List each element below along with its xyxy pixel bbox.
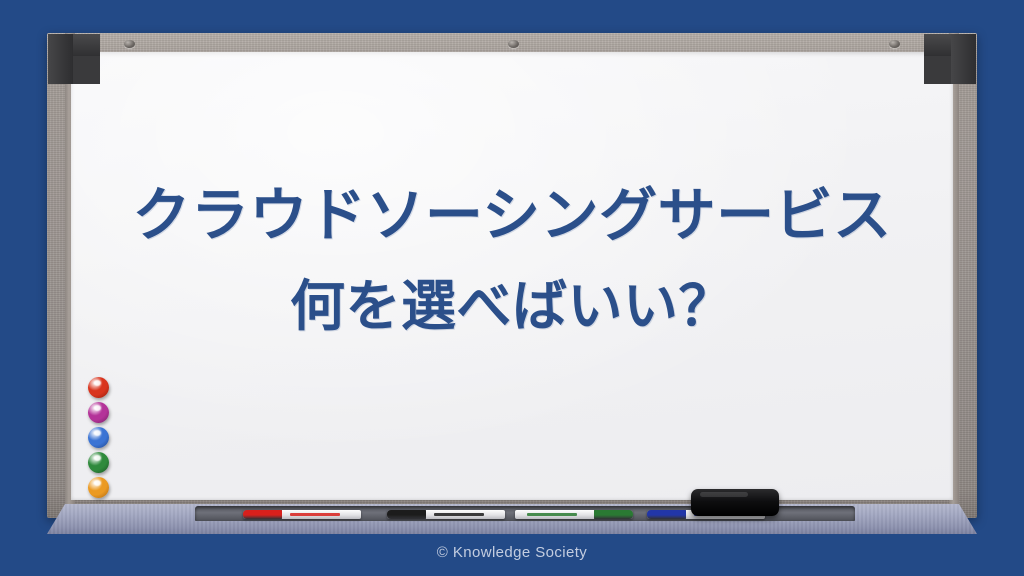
copyright-footer: © Knowledge Society [0,544,1024,561]
whiteboard-eraser[interactable] [691,489,779,516]
screw-icon [508,40,519,48]
bracket-arm-vertical [951,34,976,84]
title-line-primary: クラウドソーシングサービス [71,176,953,254]
bracket-arm-vertical [48,34,73,84]
magnet-blue-icon[interactable] [88,427,109,448]
marker-green[interactable] [515,510,633,519]
marker-cap [594,510,633,519]
screw-icon [124,40,135,48]
marker-label [527,513,577,516]
marker-red[interactable] [243,510,361,519]
whiteboard-pen-tray [47,504,977,534]
magnet-red-icon[interactable] [88,377,109,398]
slide-title-block: クラウドソーシングサービス 何を選べばいい？ [71,176,953,344]
magnet-magenta-icon[interactable] [88,402,109,423]
corner-bracket-top-right [924,34,976,84]
marker-label [290,513,340,516]
magnet-green-icon[interactable] [88,452,109,473]
marker-cap [243,510,282,519]
screw-icon [889,40,900,48]
marker-black[interactable] [387,510,505,519]
magnet-strip [88,377,112,502]
magnet-orange-icon[interactable] [88,477,109,498]
corner-bracket-top-left [48,34,100,84]
title-line-secondary: 何を選べばいい？ [71,268,953,344]
slide-canvas: クラウドソーシングサービス 何を選べばいい？ © Knowledge Socie… [0,0,1024,576]
marker-cap [387,510,426,519]
marker-label [434,513,484,516]
marker-cap [647,510,686,519]
